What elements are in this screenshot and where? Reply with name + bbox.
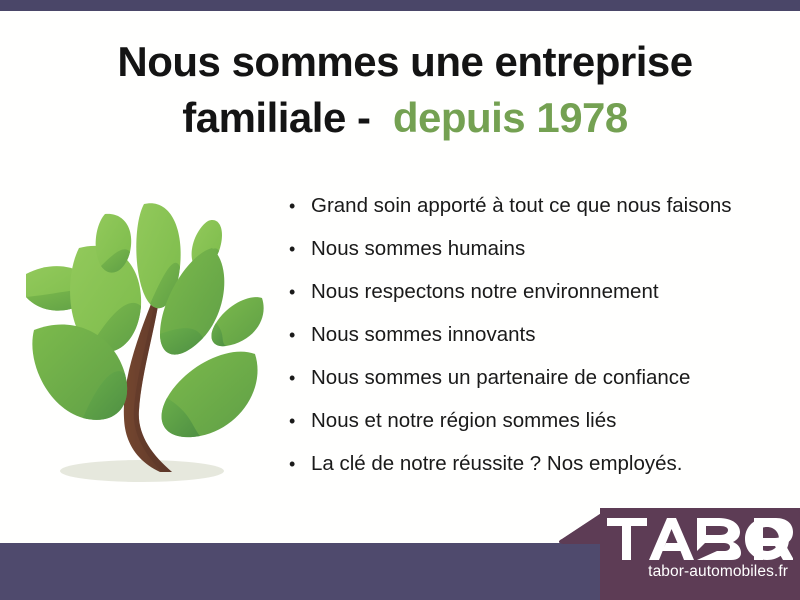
value-bullet-list: Grand soin apporté à tout ce que nous fa… xyxy=(288,192,788,493)
top-brand-bar xyxy=(0,0,800,11)
list-item: La clé de notre réussite ? Nos employés. xyxy=(288,450,788,493)
logo-website-url[interactable]: tabor-automobiles.fr xyxy=(600,563,788,581)
title-line-1: Nous sommes une entreprise xyxy=(60,34,750,90)
bullet-text: Grand soin apporté à tout ce que nous fa… xyxy=(311,194,732,217)
tree-shadow xyxy=(60,460,224,482)
tree-illustration xyxy=(12,182,274,492)
tabor-wordmark xyxy=(607,518,793,560)
bullet-text: La clé de notre réussite ? Nos employés. xyxy=(311,452,682,475)
list-item: Nous et notre région sommes liés xyxy=(288,407,788,450)
bullet-text: Nous respectons notre environnement xyxy=(311,280,659,303)
bullet-text: Nous et notre région sommes liés xyxy=(311,409,616,432)
list-item: Nous sommes innovants xyxy=(288,321,788,364)
slide-canvas: Nous sommes une entreprise familiale - d… xyxy=(0,0,800,600)
bullet-text: Nous sommes humains xyxy=(311,237,525,260)
title-accent-since: depuis 1978 xyxy=(393,94,628,141)
leaf-9 xyxy=(162,352,258,438)
list-item: Nous respectons notre environnement xyxy=(288,278,788,321)
bullet-text: Nous sommes un partenaire de confiance xyxy=(311,366,690,389)
bullet-text: Nous sommes innovants xyxy=(311,323,535,346)
title-line-2-main: familiale - xyxy=(182,94,370,141)
list-item: Nous sommes humains xyxy=(288,235,788,278)
list-item: Nous sommes un partenaire de confiance xyxy=(288,364,788,407)
page-title: Nous sommes une entreprise familiale - d… xyxy=(60,34,750,146)
company-logo[interactable]: tabor-automobiles.fr xyxy=(600,508,800,600)
list-item: Grand soin apporté à tout ce que nous fa… xyxy=(288,192,788,235)
title-line-2: familiale - depuis 1978 xyxy=(60,90,750,146)
